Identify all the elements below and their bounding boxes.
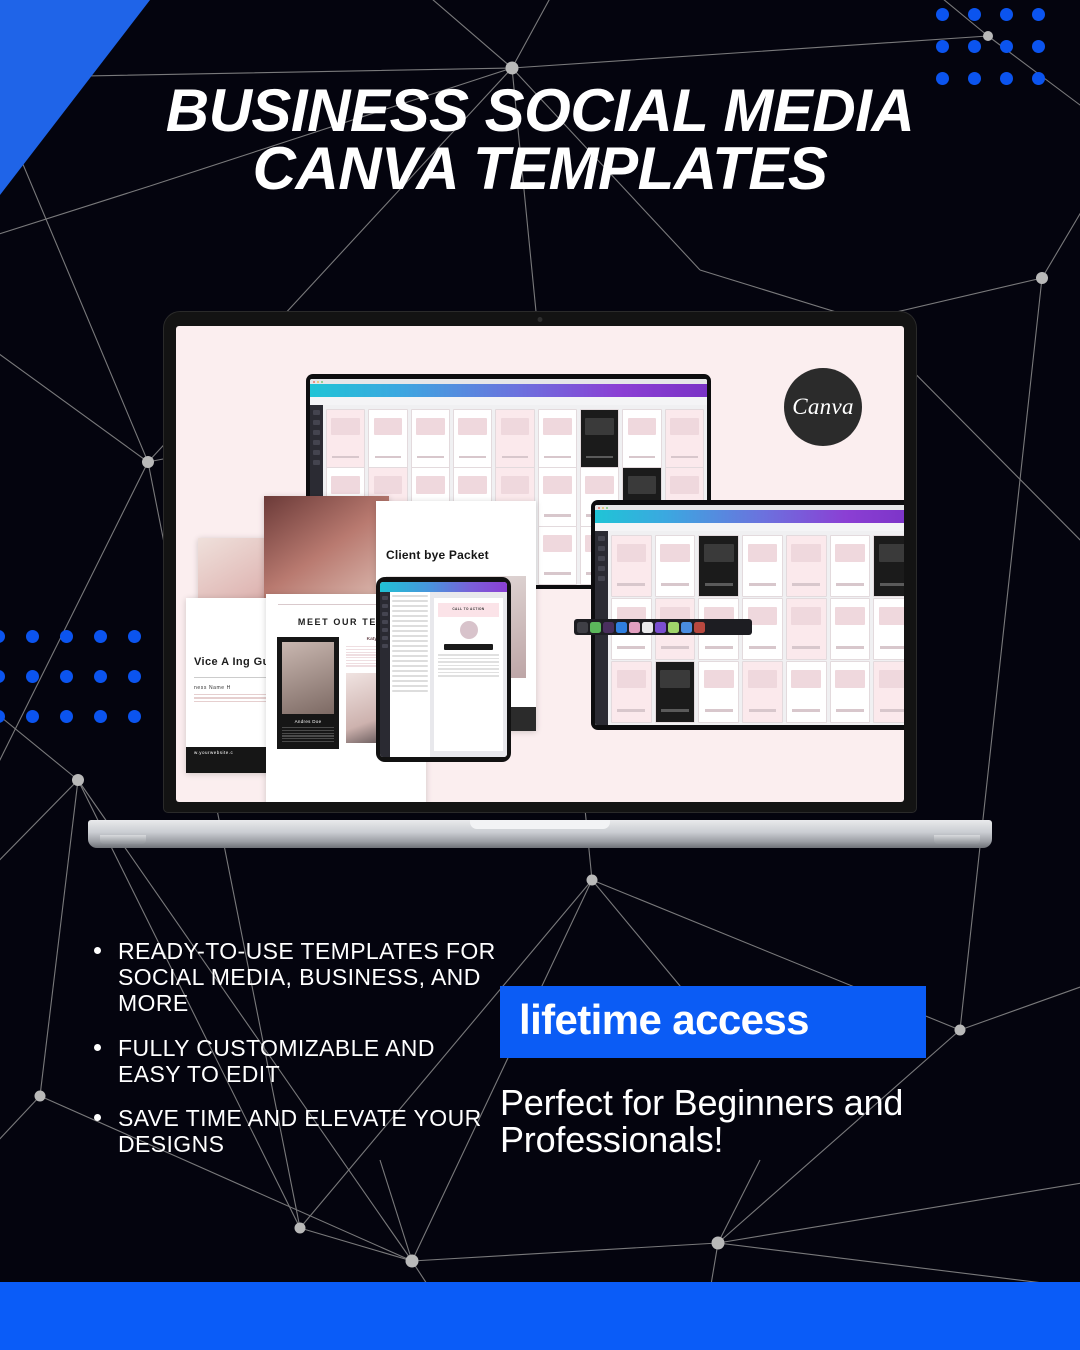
tablet-workspace: CALL TO ACTION — [380, 592, 507, 757]
design-cta-button — [444, 644, 493, 650]
decorative-dot — [968, 8, 981, 21]
dock-icon-settings — [681, 622, 692, 633]
canva-toolbar — [310, 384, 707, 397]
tablet-canvas: CALL TO ACTION — [430, 592, 507, 757]
inner-tablet: CALL TO ACTION — [376, 577, 511, 762]
decorative-dot — [968, 40, 981, 53]
template-thumbnail — [655, 661, 696, 723]
template-thumbnail — [655, 535, 696, 597]
laptop-mockup: Canva — [88, 312, 992, 860]
page-title-line-2: Canva Templates — [60, 140, 1020, 198]
template-thumbnail — [326, 409, 365, 469]
template-thumbnail — [611, 535, 652, 597]
template-thumbnail — [830, 661, 871, 723]
canva-toolbar — [595, 510, 904, 523]
webcam-icon — [538, 317, 543, 322]
browser-window-secondary — [595, 505, 904, 725]
dock-icon-finder — [577, 622, 588, 633]
template-thumbnail — [538, 526, 577, 585]
template-thumbnail — [830, 535, 871, 597]
decorative-dot — [0, 670, 5, 683]
dock-icon-appstore — [616, 622, 627, 633]
page-title: Business Social Media Canva Templates — [0, 82, 1080, 198]
laptop-foot-left — [100, 835, 146, 844]
canva-logo-text: Canva — [792, 394, 854, 420]
template-thumbnail — [786, 598, 827, 660]
decorative-dot — [0, 710, 5, 723]
template-thumbnail — [538, 467, 577, 527]
template-thumbnail — [368, 409, 407, 469]
team-member-name: Andres Doe — [282, 714, 334, 727]
decorative-dot — [60, 710, 73, 723]
canva-logo-badge: Canva — [784, 368, 862, 446]
list-item: Save time and elevate your designs — [86, 1105, 496, 1157]
decorative-dot — [26, 670, 39, 683]
decorative-dot — [60, 630, 73, 643]
canva-sidebar-tablet — [380, 592, 390, 757]
dock-icon-trash — [694, 622, 705, 633]
design-circle-image — [460, 621, 478, 639]
decorative-dot — [26, 630, 39, 643]
template-thumbnail — [495, 409, 534, 469]
font-list-panel — [390, 592, 430, 757]
macos-dock — [574, 619, 752, 635]
list-item: Ready-to-use templates for social media,… — [86, 938, 496, 1017]
decorative-dot — [1032, 40, 1045, 53]
decorative-dot — [936, 40, 949, 53]
template-thumbnail — [665, 409, 704, 469]
template-thumbnail — [453, 409, 492, 469]
dock-icon-photos — [629, 622, 640, 633]
template-thumbnail — [411, 409, 450, 469]
bottom-accent-bar — [0, 1282, 1080, 1350]
decorative-dot — [26, 710, 39, 723]
template-thumbnail — [698, 661, 739, 723]
template-thumbnail — [538, 409, 577, 469]
template-thumbnail — [786, 661, 827, 723]
template-thumbnail — [580, 409, 619, 469]
dock-icon-safari — [603, 622, 614, 633]
lifetime-access-badge: lifetime access — [500, 986, 926, 1058]
decorative-dot — [1032, 8, 1045, 21]
canva-subtoolbar — [595, 523, 904, 531]
page-title-line-1: Business Social Media — [166, 77, 915, 144]
inner-laptop-secondary — [591, 500, 904, 730]
template-thumbnail — [742, 661, 783, 723]
feature-list: Ready-to-use templates for social media,… — [86, 938, 496, 1176]
canva-toolbar-tablet — [380, 582, 507, 592]
dock-icon-music — [655, 622, 666, 633]
card-packet-title: Client bye Packet — [376, 501, 536, 562]
decorative-dot — [1000, 40, 1013, 53]
tagline: Perfect for Beginners and Professionals! — [500, 1084, 970, 1159]
template-thumbnail — [873, 598, 904, 660]
template-thumbnail — [786, 535, 827, 597]
tablet-screen: CALL TO ACTION — [380, 582, 507, 757]
decorative-dot — [1000, 8, 1013, 21]
template-thumbnail — [698, 535, 739, 597]
decorative-dot — [0, 630, 5, 643]
design-page: CALL TO ACTION — [434, 598, 503, 751]
decorative-dot — [936, 8, 949, 21]
dock-icon-notes — [642, 622, 653, 633]
dock-icon-mail — [668, 622, 679, 633]
team-member-dark: Andres Doe — [277, 637, 339, 749]
template-thumbnail — [742, 535, 783, 597]
template-thumbnail — [873, 535, 904, 597]
dock-icon-launchpad — [590, 622, 601, 633]
lifetime-access-label: lifetime access — [519, 996, 809, 1043]
list-item: Fully customizable and easy to edit — [86, 1035, 496, 1087]
laptop-screen: Canva — [176, 326, 904, 802]
team-member-photo — [282, 642, 334, 714]
design-heading: CALL TO ACTION — [438, 603, 499, 617]
laptop-lid: Canva — [164, 312, 916, 812]
design-body-lines — [438, 654, 499, 677]
laptop-base — [88, 820, 992, 848]
laptop-foot-right — [934, 835, 980, 844]
template-thumbnail — [611, 661, 652, 723]
canva-subtoolbar — [310, 397, 707, 405]
template-thumbnail — [873, 661, 904, 723]
decorative-dot — [60, 670, 73, 683]
template-thumbnail — [622, 409, 661, 469]
template-thumbnail — [830, 598, 871, 660]
